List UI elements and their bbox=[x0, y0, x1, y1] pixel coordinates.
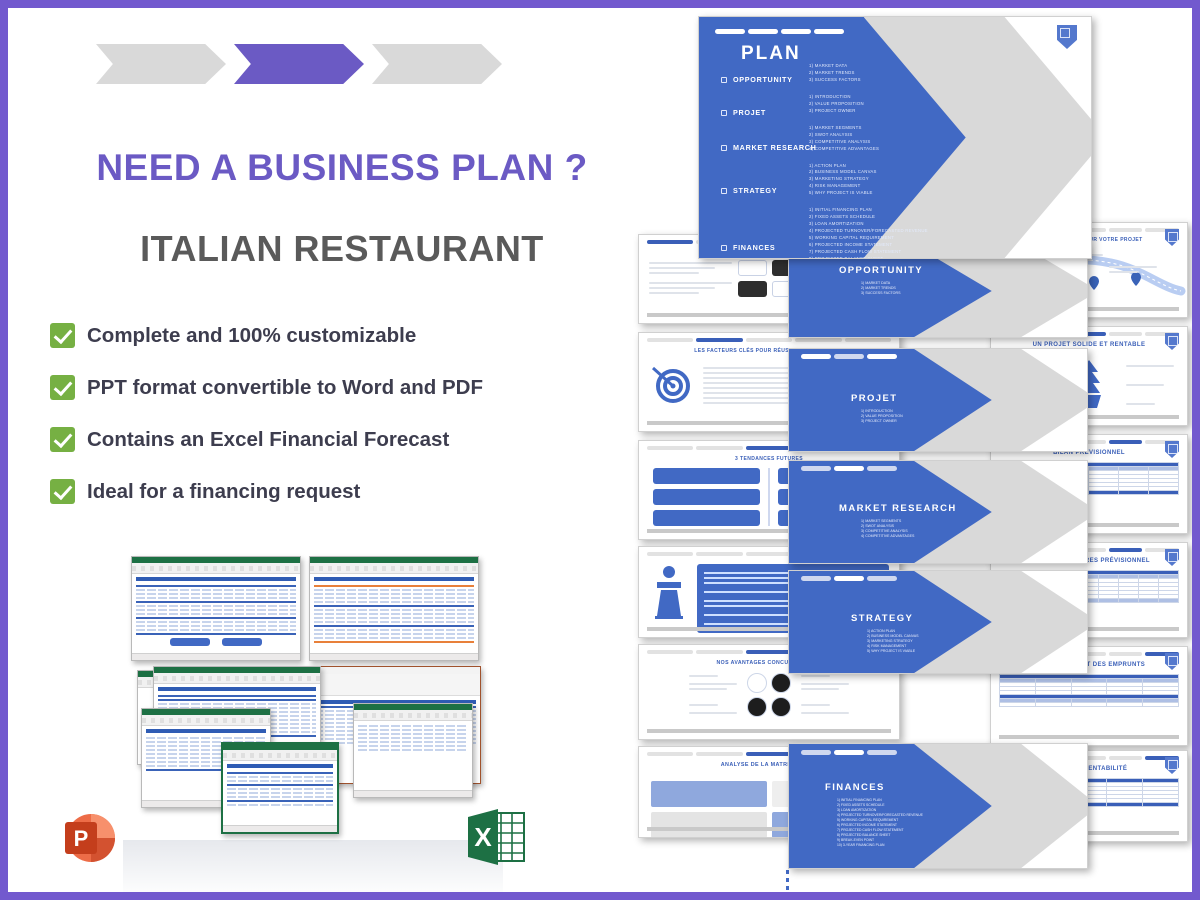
list-item: Complete and 100% customizable bbox=[50, 323, 630, 348]
excel-window bbox=[221, 742, 339, 834]
chevron-step-1[interactable] bbox=[96, 44, 226, 84]
powerpoint-icon: P bbox=[58, 808, 118, 868]
poster-canvas: NEED A BUSINESS PLAN ? ITALIAN RESTAURAN… bbox=[8, 8, 1192, 892]
plan-item: 1) INITIAL FINANCING PLAN bbox=[809, 207, 989, 214]
plan-item: 2) SWOT ANALYSIS bbox=[809, 132, 989, 139]
chevron-nav bbox=[96, 44, 502, 84]
slide-items: 1) MARKET DATA 2) MARKET TRENDS 3) SUCCE… bbox=[861, 281, 900, 296]
list-item-label: Complete and 100% customizable bbox=[87, 324, 416, 348]
chevron-step-3[interactable] bbox=[372, 44, 502, 84]
plan-item: 3) COMPETITIVE ANALYSIS bbox=[809, 139, 989, 146]
section-slide-market-research[interactable]: MARKET RESEARCH 1) MARKET SEGMENTS 2) SW… bbox=[788, 460, 1088, 564]
checkbox-icon bbox=[721, 188, 727, 194]
plan-items-market-research: 1) MARKET SEGMENTS 2) SWOT ANALYSIS 3) C… bbox=[809, 125, 989, 153]
plan-item: 7) PROJECTED CASH FLOW STATEMENT bbox=[809, 249, 989, 256]
section-slide-projet[interactable]: PROJET 1) INTRODUCTION 2) VALUE PROPOSIT… bbox=[788, 348, 1088, 452]
plan-item: 5) WORKING CAPITAL REQUIREMENT bbox=[809, 235, 989, 242]
checkbox-icon bbox=[721, 145, 727, 151]
plan-item: 4) RISK MANAGEMENT bbox=[809, 183, 989, 190]
plan-item: 2) VALUE PROPOSITION bbox=[809, 101, 989, 108]
check-icon bbox=[50, 375, 75, 400]
list-item-label: Ideal for a financing request bbox=[87, 480, 360, 504]
plan-detail-lists: 1) MARKET DATA 2) MARKET TRENDS 3) SUCCE… bbox=[809, 63, 989, 259]
feature-list: Complete and 100% customizable PPT forma… bbox=[50, 323, 630, 531]
slide-title: MARKET RESEARCH bbox=[839, 503, 957, 514]
slide-items: 1) INTRODUCTION 2) VALUE PROPOSITION 3) … bbox=[861, 409, 903, 424]
slide-items: 1) INITIAL FINANCING PLAN 2) FIXED ASSET… bbox=[837, 798, 923, 848]
check-icon bbox=[50, 323, 75, 348]
section-label: PROJET bbox=[733, 108, 766, 117]
chevron-step-2[interactable] bbox=[234, 44, 364, 84]
list-item-label: Contains an Excel Financial Forecast bbox=[87, 428, 449, 452]
plan-slide[interactable]: PLAN OPPORTUNITY PROJET MARKET RESEARCH … bbox=[698, 16, 1092, 259]
svg-text:X: X bbox=[474, 822, 492, 852]
collage-reflection bbox=[123, 840, 503, 892]
slide-title: OPPORTUNITY bbox=[839, 265, 923, 276]
checkbox-icon bbox=[721, 110, 727, 116]
plan-item: 2) FIXED ASSETS SCHEDULE bbox=[809, 214, 989, 221]
plan-item: 4) COMPETITIVE ADVANTAGES bbox=[809, 146, 989, 153]
excel-window bbox=[353, 703, 473, 798]
slide-items: 1) ACTION PLAN 2) BUSINESS MODEL CANVAS … bbox=[867, 629, 919, 654]
page-title: NEED A BUSINESS PLAN ? bbox=[62, 148, 622, 189]
section-label: STRATEGY bbox=[733, 186, 777, 195]
excel-screenshot-collage bbox=[113, 548, 513, 892]
slide-title: PROJET bbox=[851, 393, 897, 404]
slide-deck: LES FACTEURS CLÉS POUR RÉUSSIR VOTRE PRO… bbox=[620, 8, 1192, 892]
section-label: FINANCES bbox=[733, 243, 775, 252]
svg-text:P: P bbox=[74, 826, 89, 851]
excel-icon: X bbox=[460, 801, 532, 873]
shield-logo-icon bbox=[1057, 25, 1077, 49]
headline-block: NEED A BUSINESS PLAN ? ITALIAN RESTAURAN… bbox=[62, 148, 622, 268]
section-slide-strategy[interactable]: STRATEGY 1) ACTION PLAN 2) BUSINESS MODE… bbox=[788, 570, 1088, 674]
plan-item: 4) PROJECTED TURNOVER/FORECASTED REVENUE bbox=[809, 228, 989, 235]
plan-items-strategy: 1) ACTION PLAN 2) BUSINESS MODEL CANVAS … bbox=[809, 163, 989, 198]
section-label: OPPORTUNITY bbox=[733, 75, 793, 84]
speaker-podium-icon bbox=[649, 564, 689, 619]
check-icon bbox=[50, 427, 75, 452]
slide-title: PLAN bbox=[741, 43, 801, 65]
plan-items-finances: 1) INITIAL FINANCING PLAN 2) FIXED ASSET… bbox=[809, 207, 989, 259]
excel-window bbox=[309, 556, 479, 661]
slide-items: 1) MARKET SEGMENTS 2) SWOT ANALYSIS 3) C… bbox=[861, 519, 914, 539]
plan-item: 1) ACTION PLAN bbox=[809, 163, 989, 170]
plan-item: 1) MARKET DATA bbox=[809, 63, 989, 70]
plan-item: 6) PROJECTED INCOME STATEMENT bbox=[809, 242, 989, 249]
page-subtitle: ITALIAN RESTAURANT bbox=[62, 229, 622, 269]
target-icon bbox=[649, 362, 695, 408]
plan-item: 3) MARKETING STRATEGY bbox=[809, 176, 989, 183]
plan-items-projet: 1) INTRODUCTION 2) VALUE PROPOSITION 3) … bbox=[809, 94, 989, 115]
check-icon bbox=[50, 479, 75, 504]
plan-item: 5) WHY PROJECT IS VIABLE bbox=[809, 190, 989, 197]
excel-window bbox=[131, 556, 301, 661]
plan-items-opportunity: 1) MARKET DATA 2) MARKET TRENDS 3) SUCCE… bbox=[809, 63, 989, 84]
slide-title: FINANCES bbox=[825, 782, 885, 793]
list-item: Contains an Excel Financial Forecast bbox=[50, 427, 630, 452]
checkbox-icon bbox=[721, 77, 727, 83]
plan-item: 3) SUCCESS FACTORS bbox=[809, 77, 989, 84]
list-item: PPT format convertible to Word and PDF bbox=[50, 375, 630, 400]
slide-progress-tabs bbox=[715, 29, 844, 34]
slide-title: STRATEGY bbox=[851, 613, 913, 624]
plan-item: 1) INTRODUCTION bbox=[809, 94, 989, 101]
plan-item: 3) PROJECT OWNER bbox=[809, 108, 989, 115]
section-slide-finances[interactable]: FINANCES 1) INITIAL FINANCING PLAN 2) FI… bbox=[788, 743, 1088, 869]
list-item-label: PPT format convertible to Word and PDF bbox=[87, 376, 483, 400]
plan-item: 1) MARKET SEGMENTS bbox=[809, 125, 989, 132]
list-item: Ideal for a financing request bbox=[50, 479, 630, 504]
section-label: MARKET RESEARCH bbox=[733, 143, 817, 152]
checkbox-icon bbox=[721, 245, 727, 251]
plan-item: 2) MARKET TRENDS bbox=[809, 70, 989, 77]
plan-item: 8) PROJECTED BALANCE SHEET bbox=[809, 256, 989, 259]
plan-item: 3) LOAN AMORTIZATION bbox=[809, 221, 989, 228]
plan-item: 2) BUSINESS MODEL CANVAS bbox=[809, 169, 989, 176]
connector-dotted-line bbox=[786, 870, 789, 892]
